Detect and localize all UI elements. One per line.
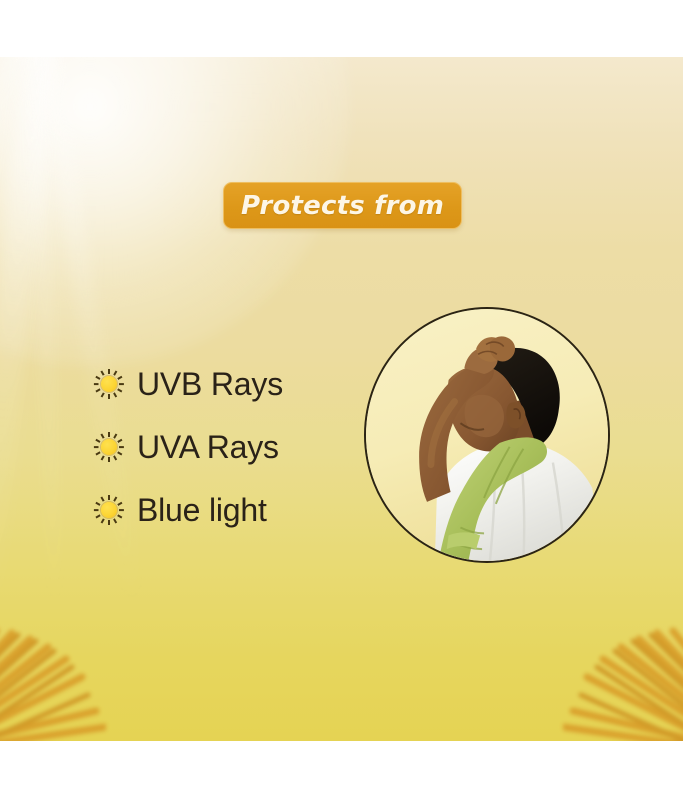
- light-ray-icon: [0, 57, 41, 372]
- light-ray-icon: [0, 57, 44, 592]
- protection-list: UVB Rays UVA Rays: [94, 352, 344, 541]
- sun-icon: [94, 495, 124, 525]
- list-item-label: UVB Rays: [137, 368, 283, 400]
- list-item-label: UVA Rays: [137, 431, 279, 463]
- list-item: UVB Rays: [94, 352, 344, 415]
- palm-leaf-icon: [563, 607, 683, 741]
- light-ray-icon: [28, 57, 62, 617]
- light-ray-icon: [0, 57, 43, 285]
- list-item: Blue light: [94, 478, 344, 541]
- poster-canvas: Protects from UVB Rays: [0, 0, 683, 800]
- sun-icon: [94, 369, 124, 399]
- protects-from-banner: Protects from: [223, 182, 462, 229]
- list-item: UVA Rays: [94, 415, 344, 478]
- person-shielding-eyes-photo: [364, 307, 610, 563]
- list-item-label: Blue light: [137, 494, 267, 526]
- light-ray-icon: [0, 57, 49, 465]
- palm-leaf-icon: [0, 607, 106, 741]
- banner-label: Protects from: [241, 191, 444, 221]
- light-ray-icon: [0, 57, 62, 615]
- sun-icon: [94, 432, 124, 462]
